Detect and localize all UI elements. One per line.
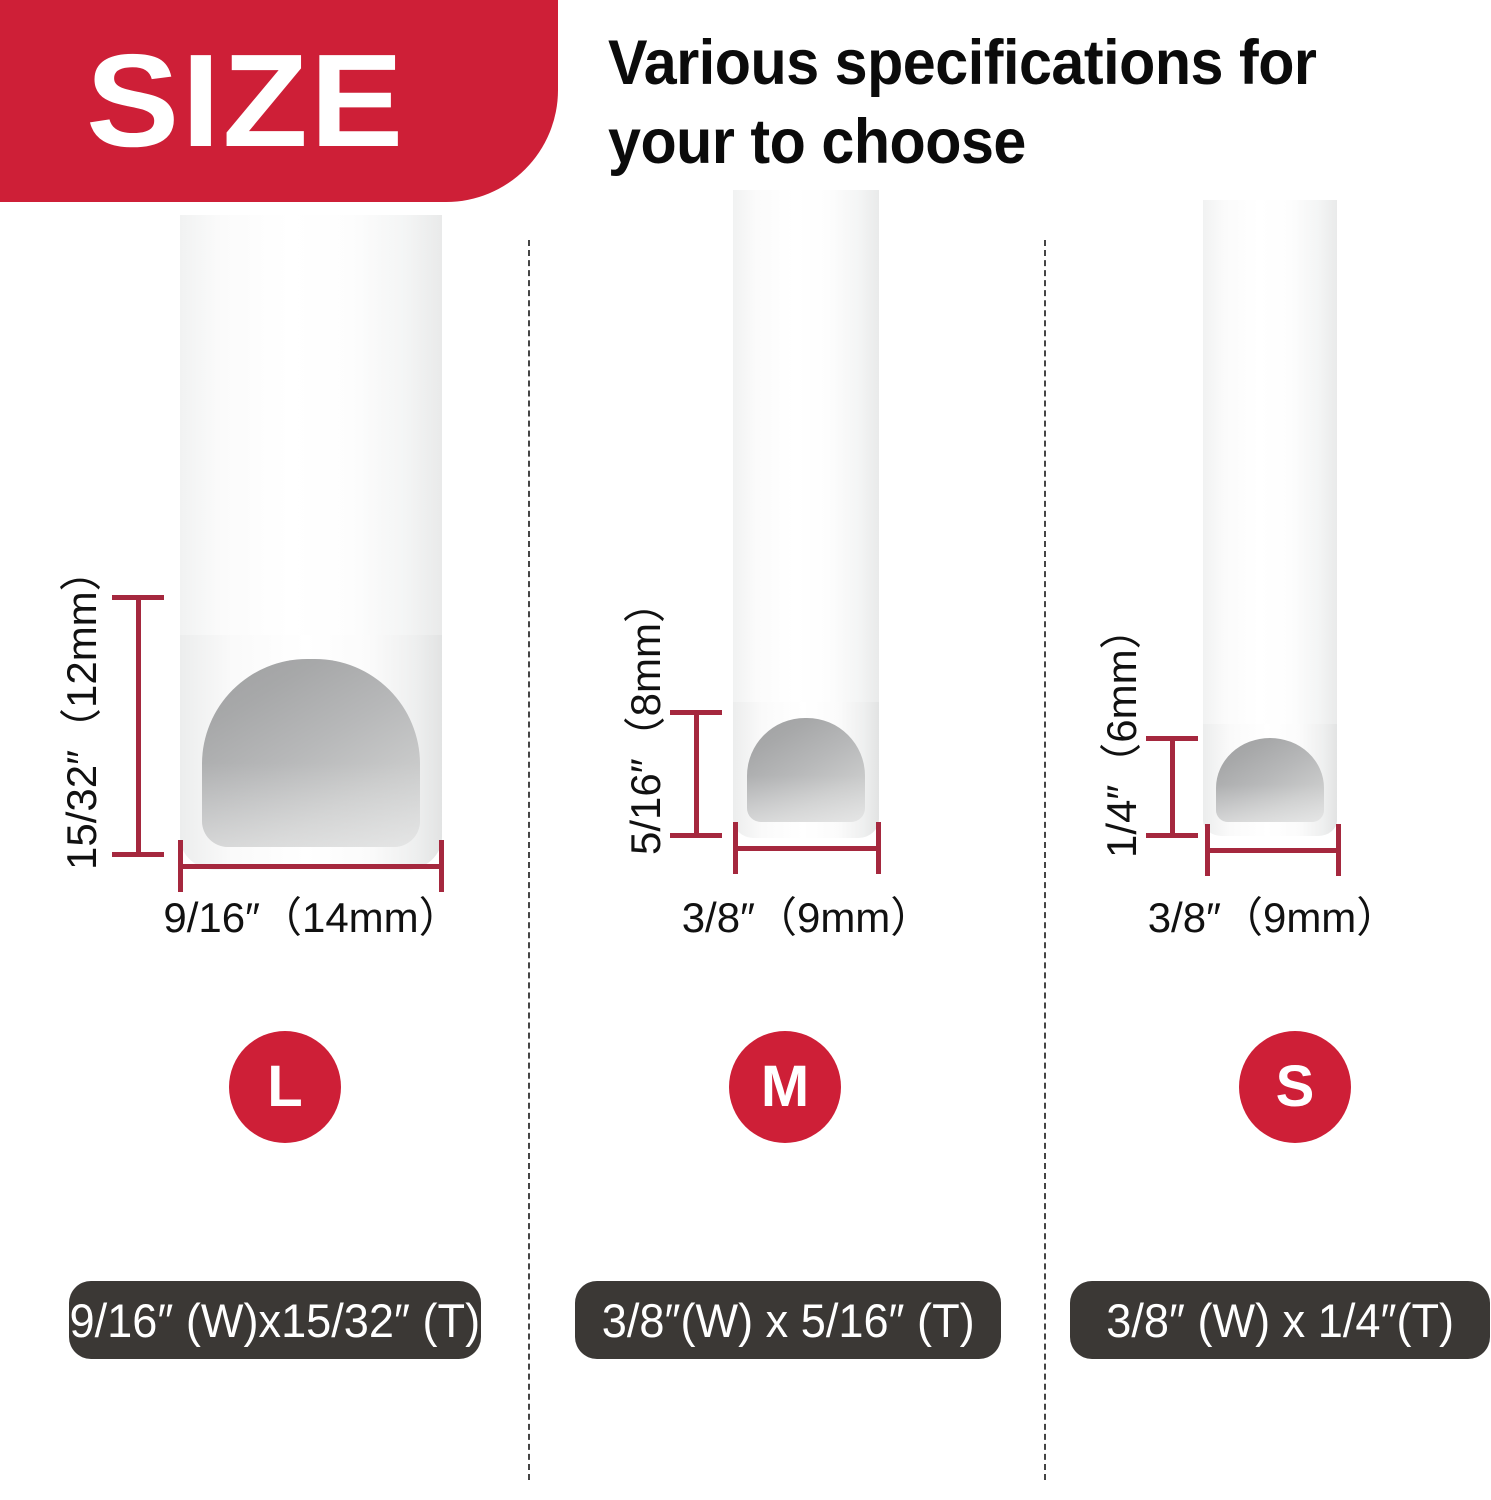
size-badge-small-letter: S — [1276, 1058, 1315, 1116]
dimension-cap-top — [112, 595, 164, 600]
dimension-cap-bottom — [1146, 833, 1198, 838]
tube-large-hole — [202, 659, 420, 847]
dimension-label-height-large: 15/32″（12mm） — [48, 549, 109, 870]
page-title: Various specifications for your to choos… — [608, 24, 1435, 182]
tube-large-cross-section — [180, 635, 442, 870]
tube-large-body — [180, 215, 442, 645]
dimension-line-stroke — [136, 595, 141, 857]
dimension-line-height-medium — [670, 710, 722, 838]
spec-pill-small-text: 3/8″ (W) x 1/4″(T) — [1106, 1297, 1454, 1344]
dimension-label-height-small: 1/4″（6mm） — [1088, 607, 1149, 858]
size-banner-label: SIZE — [86, 35, 405, 167]
tube-medium-body — [733, 190, 879, 710]
size-badge-small: S — [1239, 1031, 1351, 1143]
dimension-label-width-small: 3/8″（9mm） — [1101, 884, 1445, 945]
tube-medium-cross-section — [733, 702, 879, 838]
dimension-cap-bottom — [112, 852, 164, 857]
tube-large-hole-shading — [202, 659, 420, 847]
spec-pill-medium-text: 3/8″(W) x 5/16″ (T) — [602, 1297, 975, 1344]
dimension-label-width-large: 9/16″（14mm） — [140, 884, 484, 945]
tube-small-hole — [1216, 738, 1324, 822]
dimension-cap-right — [876, 822, 881, 874]
column-divider-2 — [1044, 240, 1046, 1480]
dimension-line-width-small — [1205, 824, 1341, 876]
spec-pill-medium: 3/8″(W) x 5/16″ (T) — [575, 1281, 1001, 1359]
tube-small — [1203, 200, 1337, 836]
dimension-line-height-large — [112, 595, 164, 857]
tube-medium — [733, 190, 879, 838]
dimension-cap-top — [670, 710, 722, 715]
tube-small-body — [1203, 200, 1337, 730]
dimension-line-stroke — [1205, 848, 1341, 853]
size-chart-page: SIZE Various specifications for your to … — [0, 0, 1491, 1500]
spec-pill-large-text: 9/16″ (W)x15/32″ (T) — [70, 1297, 481, 1344]
size-badge-medium: M — [729, 1031, 841, 1143]
dimension-label-width-medium: 3/8″（9mm） — [635, 884, 979, 945]
dimension-line-stroke — [178, 864, 444, 869]
dimension-line-stroke — [1170, 736, 1175, 838]
tube-large — [180, 215, 442, 870]
dimension-line-width-medium — [733, 822, 881, 874]
dimension-cap-bottom — [670, 833, 722, 838]
dimension-cap-left — [733, 822, 738, 874]
tube-medium-hole — [747, 718, 865, 822]
dimension-label-height-medium: 5/16″（8mm） — [612, 581, 673, 855]
column-divider-1 — [528, 240, 530, 1480]
tube-medium-hole-shading — [747, 718, 865, 822]
size-banner: SIZE — [0, 0, 558, 202]
dimension-line-stroke — [694, 710, 699, 838]
spec-pill-large: 9/16″ (W)x15/32″ (T) — [69, 1281, 481, 1359]
dimension-cap-right — [1336, 824, 1341, 876]
dimension-line-height-small — [1146, 736, 1198, 838]
tube-small-cross-section — [1203, 724, 1337, 836]
size-badge-large: L — [229, 1031, 341, 1143]
spec-pill-small: 3/8″ (W) x 1/4″(T) — [1070, 1281, 1490, 1359]
dimension-cap-left — [1205, 824, 1210, 876]
dimension-line-stroke — [733, 846, 881, 851]
dimension-cap-top — [1146, 736, 1198, 741]
size-badge-large-letter: L — [267, 1058, 302, 1116]
tube-small-hole-shading — [1216, 738, 1324, 822]
size-badge-medium-letter: M — [761, 1058, 809, 1116]
